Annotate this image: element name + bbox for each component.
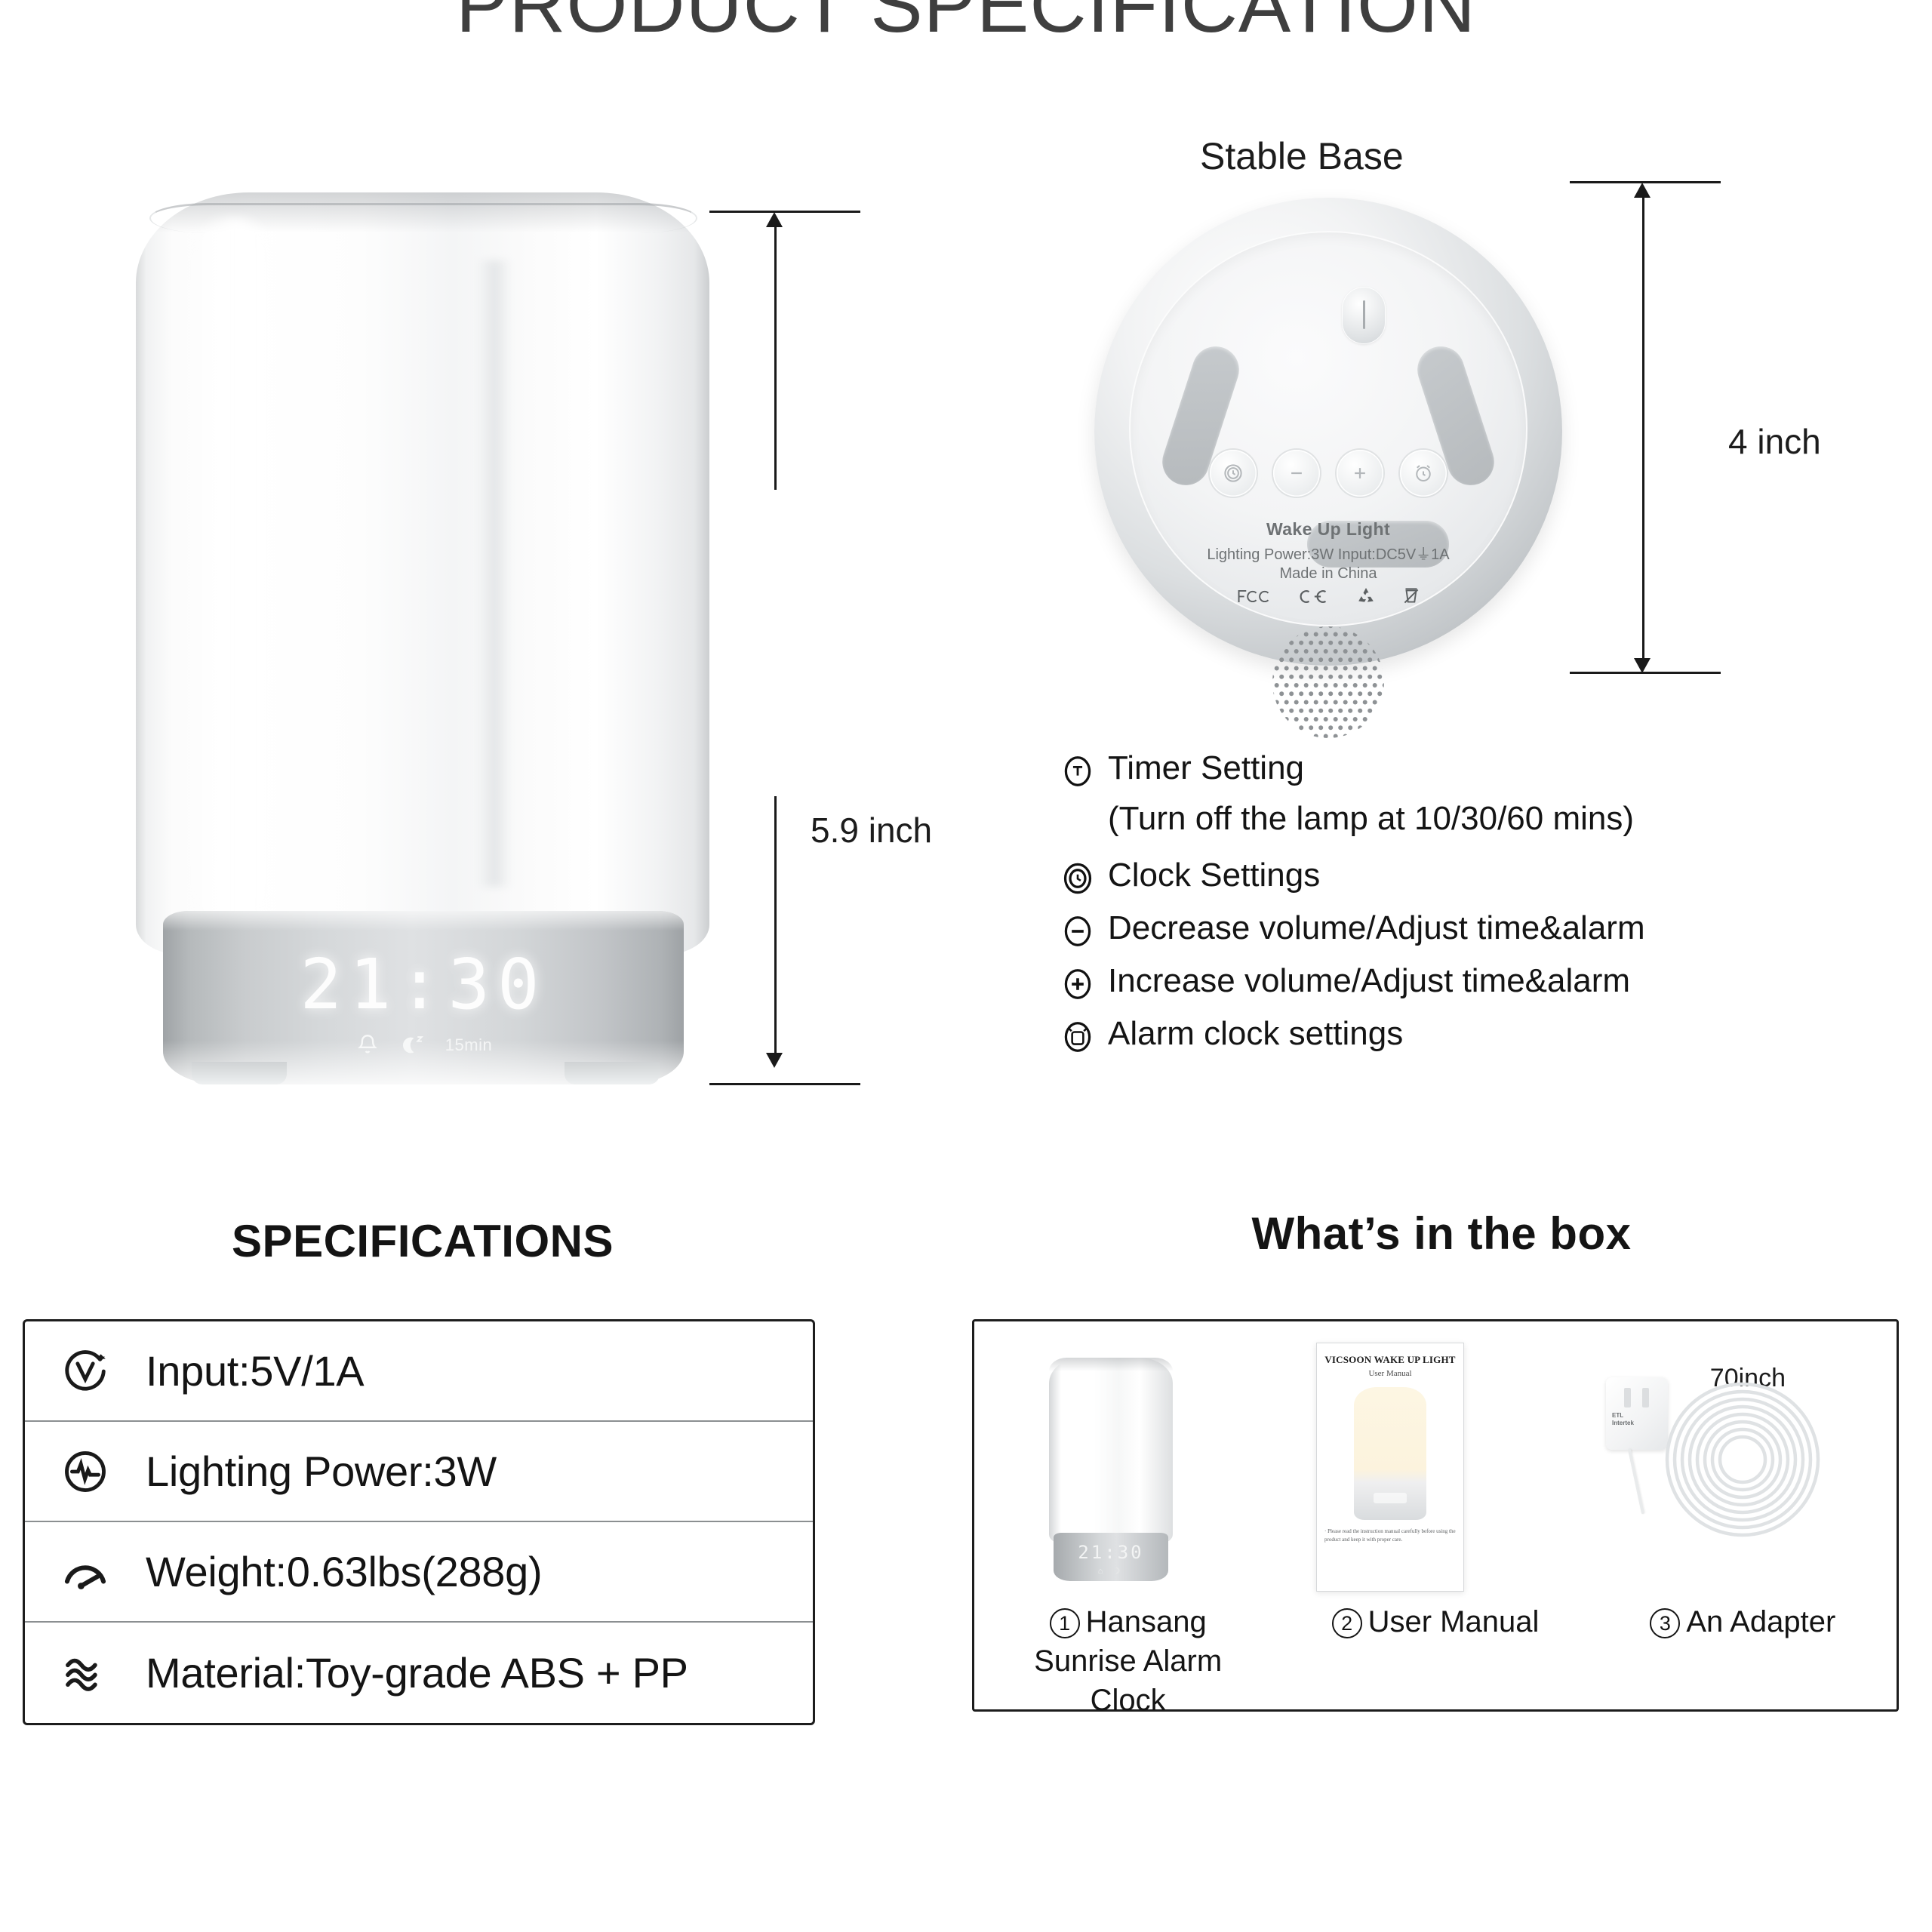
page-title: PRODUCT SPECIFICATION <box>0 0 1932 51</box>
manual-cover: VICSOON WAKE UP LIGHT User Manual · Plea… <box>1316 1343 1464 1592</box>
manual-cover-photo <box>1354 1387 1426 1520</box>
plus-icon <box>1057 963 1099 1005</box>
box-item-manual: VICSOON WAKE UP LIGHT User Manual · Plea… <box>1316 1343 1464 1592</box>
weee-icon <box>1402 586 1420 607</box>
box-item-adapter: 70inch ETL Intertek <box>1601 1365 1828 1592</box>
lamp-dimension: 5.9 inch <box>709 192 1026 1106</box>
spec-label-power: Lighting Power:3W <box>146 1447 497 1496</box>
clock-readout: 21:30 <box>163 950 684 1020</box>
legend-label-decrease: Decrease volume/Adjust time&alarm <box>1099 907 1645 949</box>
base-text-line3: Made in China <box>1129 565 1527 583</box>
spec-row-power: Lighting Power:3W <box>25 1422 813 1522</box>
mini-lamp-image: 21:30 ⌂ ☽ <box>1043 1358 1179 1592</box>
ce-icon <box>1297 586 1330 606</box>
box-caption-3: 3An Adapter <box>1618 1602 1867 1641</box>
base-disc: Wake Up Light Lighting Power:3W Input:DC… <box>1094 198 1562 666</box>
voltage-icon <box>25 1321 146 1420</box>
pulse-icon <box>25 1422 146 1521</box>
base-dimension-label: 4 inch <box>1728 421 1821 462</box>
box-item-images: 21:30 ⌂ ☽ VICSOON WAKE UP LIGHT User Man… <box>974 1343 1897 1592</box>
lamp-foot-right <box>565 1062 660 1084</box>
base-button-row <box>1129 450 1527 497</box>
display-indicators: 15min <box>163 1032 684 1059</box>
lamp-diffuser <box>136 192 709 955</box>
etl-mark: ETL Intertek <box>1612 1412 1634 1427</box>
clock-icon <box>1057 857 1099 900</box>
adapter-image: 70inch ETL Intertek <box>1601 1365 1828 1592</box>
lamp-base-ring: 21:30 15min <box>163 911 684 1084</box>
box-item-captions: 1Hansang Sunrise Alarm Clock 2User Manua… <box>974 1602 1897 1720</box>
legend-label-alarm: Alarm clock settings <box>1099 1013 1403 1055</box>
alarm-button[interactable] <box>1400 450 1447 497</box>
timer-t-icon <box>1057 750 1099 792</box>
lamp-foot-left <box>192 1062 287 1084</box>
alarm-clock-icon <box>1057 1016 1099 1058</box>
lamp-rim <box>149 203 697 233</box>
adapter-cable-coil <box>1663 1380 1822 1543</box>
legend-label-increase: Increase volume/Adjust time&alarm <box>1099 960 1630 1002</box>
recycle-icon <box>1355 586 1377 607</box>
legend-sub-timer: (Turn off the lamp at 10/30/60 mins) <box>1108 800 1887 838</box>
box-label-2: User Manual <box>1368 1605 1540 1638</box>
manual-note: · Please read the instruction manual car… <box>1324 1527 1456 1543</box>
base-text-line2: Lighting Power:3W Input:DC5V⏚1A <box>1129 542 1527 564</box>
specifications-table: Input:5V/1A Lighting Power:3W Weight:0.6… <box>23 1319 815 1725</box>
mini-lamp-indicators: ⌂ ☽ <box>1043 1566 1179 1576</box>
adapter-lead <box>1628 1449 1644 1515</box>
legend-item-clock: Clock Settings <box>1057 854 1887 900</box>
mini-lamp-clock: 21:30 <box>1043 1542 1179 1563</box>
box-label-3: An Adapter <box>1686 1605 1835 1638</box>
lamp-feet <box>192 1062 660 1088</box>
manual-title: VICSOON WAKE UP LIGHT <box>1324 1354 1455 1366</box>
legend-item-decrease: Decrease volume/Adjust time&alarm <box>1057 907 1887 952</box>
spec-row-input: Input:5V/1A <box>25 1321 813 1422</box>
spec-label-weight: Weight:0.63lbs(288g) <box>146 1547 542 1596</box>
button-legend: Timer Setting (Turn off the lamp at 10/3… <box>1057 747 1887 1066</box>
minus-icon <box>1057 910 1099 952</box>
spec-row-weight: Weight:0.63lbs(288g) <box>25 1522 813 1623</box>
item-number-3: 3 <box>1650 1608 1680 1638</box>
legend-label-timer: Timer Setting <box>1099 747 1304 789</box>
power-button[interactable] <box>1342 287 1386 344</box>
minus-button[interactable] <box>1273 450 1320 497</box>
gauge-icon <box>25 1522 146 1621</box>
spec-label-material: Material:Toy-grade ABS + PP <box>146 1648 688 1697</box>
box-caption-2: 2User Manual <box>1311 1602 1560 1641</box>
speaker-grille <box>1269 623 1387 741</box>
legend-item-increase: Increase volume/Adjust time&alarm <box>1057 960 1887 1005</box>
base-text-line1: Wake Up Light <box>1129 519 1527 540</box>
certification-marks <box>1129 586 1527 607</box>
lamp-highlight <box>477 260 512 887</box>
base-inner-face: Wake Up Light Lighting Power:3W Input:DC… <box>1129 231 1527 626</box>
waves-icon <box>25 1623 146 1723</box>
adapter-brick: ETL Intertek <box>1606 1377 1668 1450</box>
box-caption-1: 1Hansang Sunrise Alarm Clock <box>1004 1602 1253 1720</box>
plus-button[interactable] <box>1337 450 1383 497</box>
base-molded-text: Wake Up Light Lighting Power:3W Input:DC… <box>1129 519 1527 583</box>
moon-zz-icon <box>397 1032 429 1059</box>
fcc-icon <box>1236 586 1271 606</box>
item-number-2: 2 <box>1332 1608 1362 1638</box>
legend-item-alarm: Alarm clock settings <box>1057 1013 1887 1058</box>
item-number-1: 1 <box>1050 1608 1080 1638</box>
lamp-figure: 21:30 15min <box>113 192 732 1106</box>
manual-subtitle: User Manual <box>1368 1369 1411 1378</box>
lamp-dimension-label: 5.9 inch <box>811 810 932 851</box>
bell-icon <box>355 1032 380 1059</box>
box-item-lamp: 21:30 ⌂ ☽ <box>1043 1358 1179 1592</box>
box-heading: What’s in the box <box>966 1207 1917 1260</box>
spec-row-material: Material:Toy-grade ABS + PP <box>25 1623 813 1723</box>
clock-button[interactable] <box>1210 450 1257 497</box>
legend-label-clock: Clock Settings <box>1099 854 1320 897</box>
timer-minutes-indicator: 15min <box>445 1035 492 1055</box>
lamp-display: 21:30 15min <box>163 950 684 1059</box>
legend-item-timer: Timer Setting <box>1057 747 1887 792</box>
box-contents-panel: 21:30 ⌂ ☽ VICSOON WAKE UP LIGHT User Man… <box>972 1319 1899 1712</box>
specifications-heading: SPECIFICATIONS <box>0 1215 845 1267</box>
stable-base-figure: Wake Up Light Lighting Power:3W Input:DC… <box>1079 136 1607 740</box>
spec-label-input: Input:5V/1A <box>146 1346 364 1395</box>
base-dimension: 4 inch <box>1570 181 1857 694</box>
